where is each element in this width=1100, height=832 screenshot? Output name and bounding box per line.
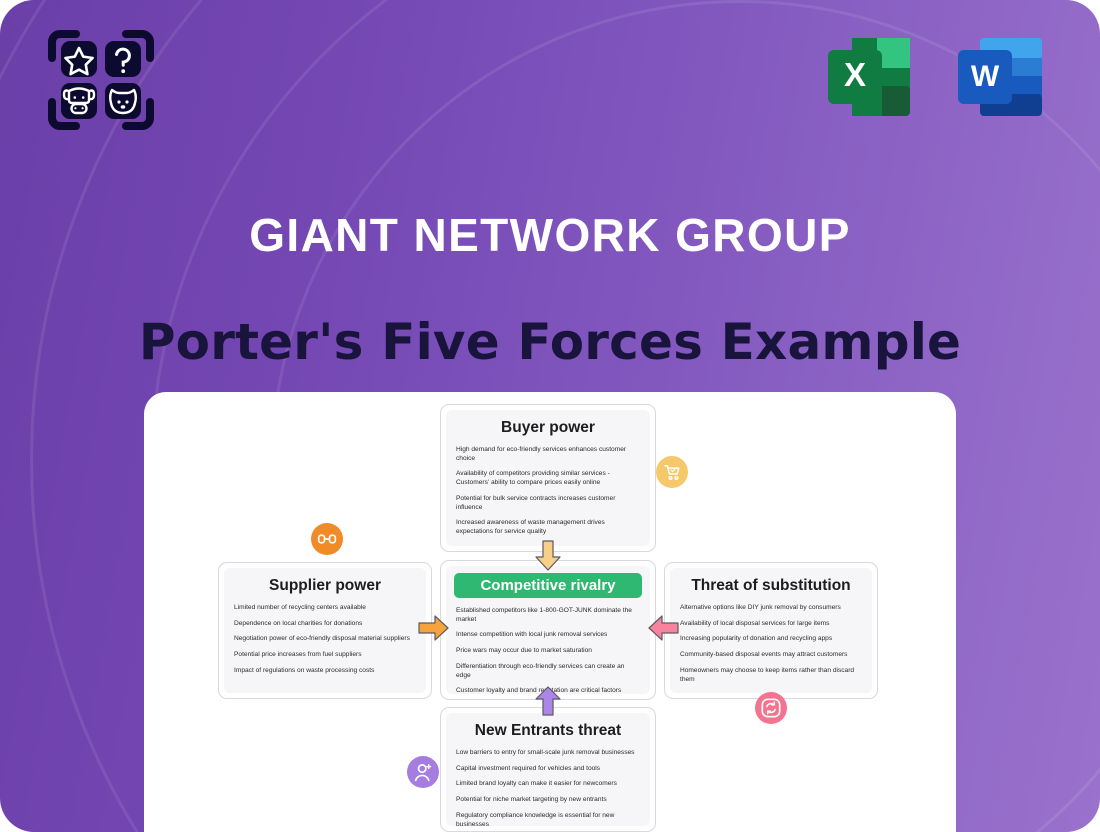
force-list-substitution: Alternative options like DIY junk remova… <box>680 604 862 684</box>
arrow-supplier-to-rivalry-icon <box>418 614 450 647</box>
force-title-supplier: Supplier power <box>234 577 416 595</box>
list-item: Established competitors like 1-800-GOT-J… <box>456 607 640 624</box>
arrow-new-entrants-to-rivalry-icon <box>534 686 562 721</box>
document-card: Buyer power High demand for eco-friendly… <box>144 392 956 832</box>
list-item: Differentiation through eco-friendly ser… <box>456 663 640 680</box>
force-title-buyer: Buyer power <box>456 419 640 437</box>
force-list-supplier: Limited number of recycling centers avai… <box>234 604 416 676</box>
page-title: Porter's Five Forces Example <box>0 313 1100 371</box>
add-user-icon <box>413 762 434 783</box>
list-item: Potential for bulk service contracts inc… <box>456 495 640 512</box>
link-badge[interactable] <box>311 523 343 555</box>
force-title-new-entrants: New Entrants threat <box>456 722 640 740</box>
list-item: Intense competition with local junk remo… <box>456 631 640 640</box>
giant-network-group-logo <box>46 28 156 132</box>
list-item: Dependence on local charities for donati… <box>234 620 416 629</box>
force-list-rivalry: Established competitors like 1-800-GOT-J… <box>456 607 640 694</box>
list-item: Negotiation power of eco-friendly dispos… <box>234 635 416 644</box>
arrow-substitution-to-rivalry-icon <box>647 614 679 647</box>
arrow-buyer-to-rivalry-icon <box>534 540 562 577</box>
list-item: Alternative options like DIY junk remova… <box>680 604 862 613</box>
list-item: Increased awareness of waste management … <box>456 519 640 536</box>
list-item: Price wars may occur due to market satur… <box>456 647 640 656</box>
list-item: Community-based disposal events may attr… <box>680 651 862 660</box>
list-item: Limited brand loyalty can make it easier… <box>456 780 640 789</box>
force-title-substitution: Threat of substitution <box>680 577 862 595</box>
force-list-buyer: High demand for eco-friendly services en… <box>456 446 640 537</box>
force-list-new-entrants: Low barriers to entry for small-scale ju… <box>456 749 640 826</box>
excel-icon: X <box>822 30 916 124</box>
list-item: Potential for niche market targeting by … <box>456 796 640 805</box>
refresh-icon <box>760 697 782 719</box>
refresh-badge[interactable] <box>755 692 787 724</box>
force-box-substitution[interactable]: Threat of substitution Alternative optio… <box>664 562 878 699</box>
list-item: Low barriers to entry for small-scale ju… <box>456 749 640 758</box>
force-box-rivalry[interactable]: Competitive rivalry Established competit… <box>440 560 656 700</box>
link-icon <box>317 529 337 549</box>
add-user-badge[interactable] <box>407 756 439 788</box>
list-item: Regulatory compliance knowledge is essen… <box>456 812 640 826</box>
screenshot-root: X W GIANT NETWORK GROUP Porter's Five Fo… <box>0 0 1100 832</box>
office-icons-group: X W <box>822 30 1048 124</box>
list-item: Limited number of recycling centers avai… <box>234 604 416 613</box>
list-item: Availability of competitors providing si… <box>456 470 640 487</box>
list-item: Availability of local disposal services … <box>680 620 862 629</box>
shopping-cart-icon <box>663 463 682 482</box>
list-item: Impact of regulations on waste processin… <box>234 667 416 676</box>
force-box-buyer[interactable]: Buyer power High demand for eco-friendly… <box>440 404 656 552</box>
list-item: Homeowners may choose to keep items rath… <box>680 667 862 684</box>
list-item: Capital investment required for vehicles… <box>456 765 640 774</box>
word-icon: W <box>954 30 1048 124</box>
shopping-cart-badge[interactable] <box>656 456 688 488</box>
brand-title: GIANT NETWORK GROUP <box>0 208 1100 262</box>
list-item: Increasing popularity of donation and re… <box>680 635 862 644</box>
svg-text:X: X <box>844 56 866 93</box>
porters-five-forces-diagram: Buyer power High demand for eco-friendly… <box>144 392 956 832</box>
force-box-new-entrants[interactable]: New Entrants threat Low barriers to entr… <box>440 707 656 832</box>
list-item: Potential price increases from fuel supp… <box>234 651 416 660</box>
list-item: High demand for eco-friendly services en… <box>456 446 640 463</box>
svg-text:W: W <box>971 60 1000 93</box>
force-box-supplier[interactable]: Supplier power Limited number of recycli… <box>218 562 432 699</box>
